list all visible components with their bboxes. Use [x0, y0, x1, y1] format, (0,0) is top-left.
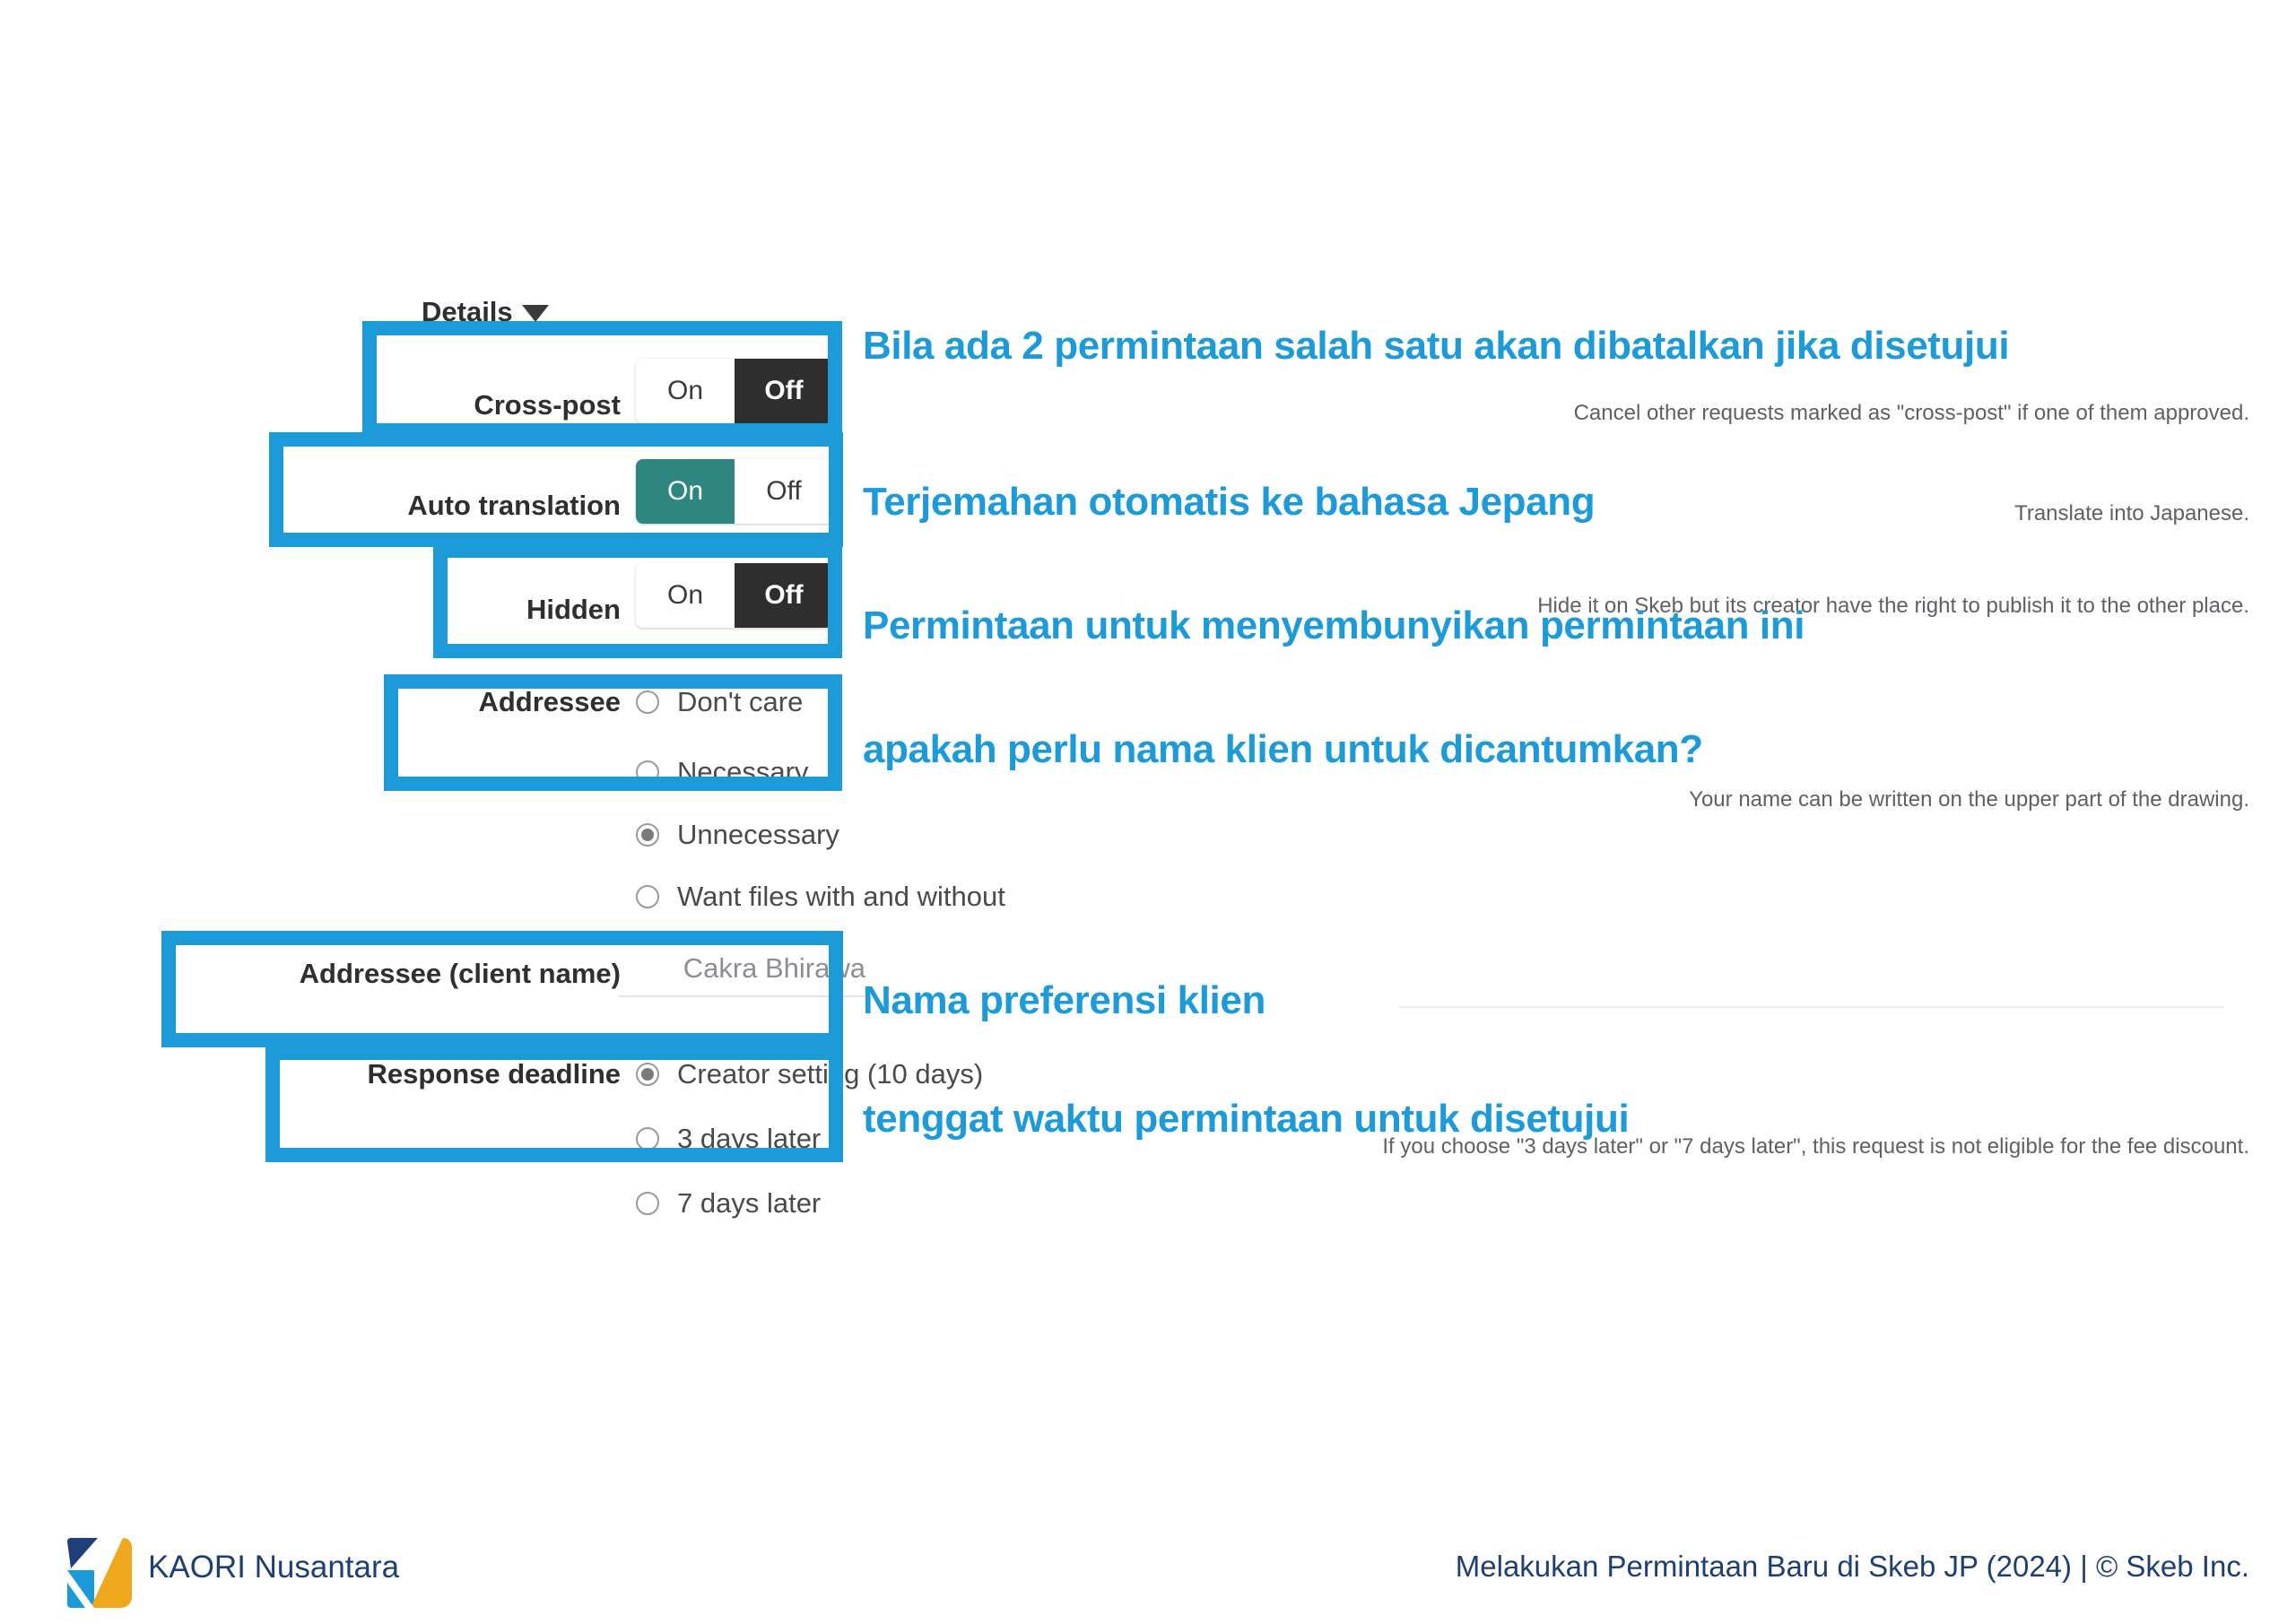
annotation-box-addressee: [384, 674, 842, 791]
deadline-option-label: 7 days later: [677, 1187, 821, 1220]
annotation-box-client-name: [161, 931, 843, 1047]
deadline-option-7-days[interactable]: 7 days later: [636, 1187, 821, 1220]
annotation-text-client-name: Nama preferensi klien: [863, 977, 1670, 1024]
addressee-help-text: Your name can be written on the upper pa…: [1689, 787, 2249, 812]
footer-brand-label: KAORI Nusantara: [148, 1550, 399, 1585]
annotation-text-auto-translation: Terjemahan otomatis ke bahasa Jepang: [863, 479, 1849, 525]
radio-icon[interactable]: [636, 1192, 659, 1215]
kaori-k-logo: [67, 1538, 132, 1608]
radio-icon[interactable]: [636, 885, 659, 908]
annotation-box-response-deadline: [265, 1046, 843, 1162]
annotation-text-response-deadline: tenggat waktu permintaan untuk disetujui: [863, 1096, 2029, 1142]
annotation-box-cross-post: [362, 321, 842, 438]
slide-canvas: Details Cross-post On Off Cancel other r…: [0, 0, 2296, 1624]
annotation-box-hidden: [433, 543, 842, 658]
cross-post-help-text: Cancel other requests marked as "cross-p…: [1574, 401, 2249, 426]
annotation-text-hidden: Permintaan untuk menyembunyikan perminta…: [863, 603, 2118, 649]
annotation-text-cross-post: Bila ada 2 permintaan salah satu akan di…: [863, 323, 2190, 369]
addressee-option-want-files[interactable]: Want files with and without: [636, 881, 1005, 913]
annotation-box-auto-translation: [269, 432, 843, 547]
addressee-option-label: Unnecessary: [677, 819, 839, 851]
annotation-text-addressee: apakah perlu nama klien untuk dicantumka…: [863, 726, 2029, 773]
radio-icon[interactable]: [636, 823, 659, 847]
chevron-down-icon: [522, 305, 549, 322]
addressee-option-label: Want files with and without: [677, 881, 1005, 913]
addressee-option-unnecessary[interactable]: Unnecessary: [636, 819, 839, 851]
auto-translation-help-text: Translate into Japanese.: [2014, 501, 2249, 526]
footer-credit-label: Melakukan Permintaan Baru di Skeb JP (20…: [1456, 1550, 2249, 1584]
